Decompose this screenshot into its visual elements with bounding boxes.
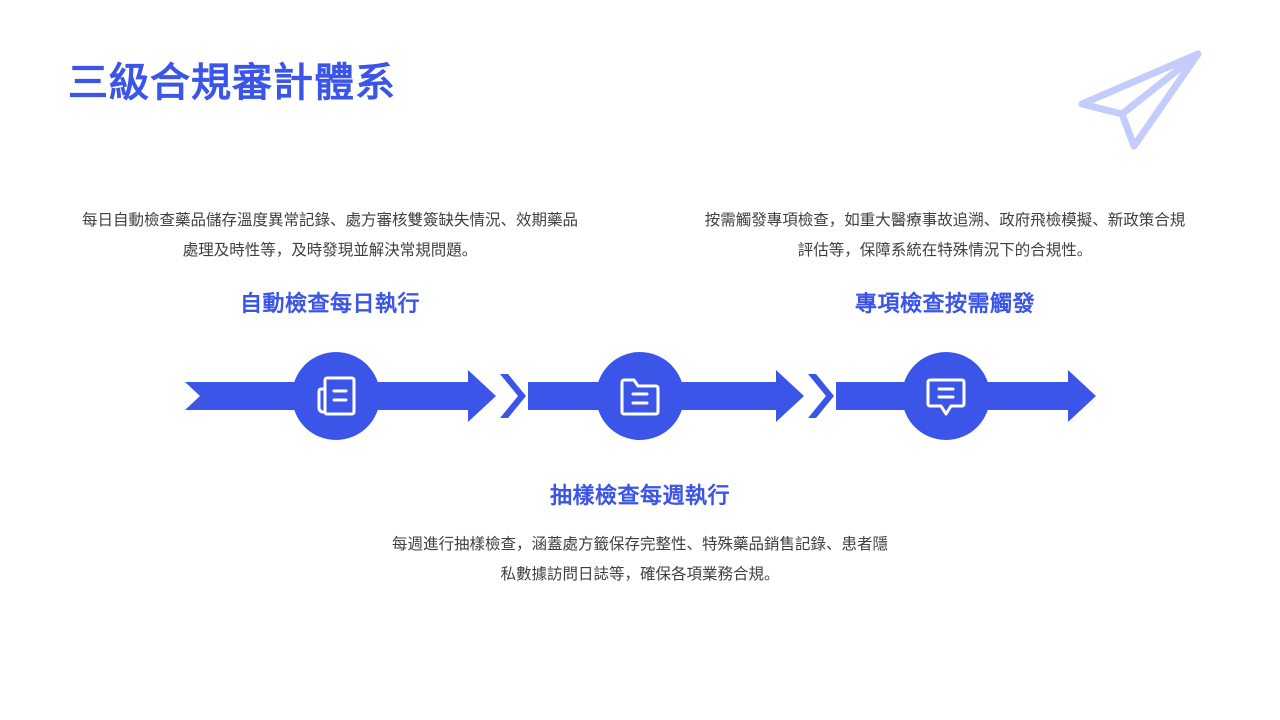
heading-right: 專項檢查按需觸發	[700, 286, 1190, 318]
timeline-arrow-segment-2	[372, 370, 496, 422]
timeline-bar-1	[528, 382, 606, 410]
timeline-arrow-segment-3	[676, 370, 804, 422]
heading-center: 抽樣檢查每週執行	[390, 478, 890, 510]
page-title: 三級合規審計體系	[68, 60, 396, 106]
heading-left: 自動檢查每日執行	[80, 286, 580, 318]
timeline-node-1	[292, 352, 380, 440]
timeline-chevron-2	[808, 374, 834, 418]
timeline-arrow-segment-4	[982, 370, 1096, 422]
timeline-graphic	[0, 340, 1280, 452]
description-center: 每週進行抽樣檢查，涵蓋處方籤保存完整性、特殊藥品銷售記錄、患者隱私數據訪問日誌等…	[390, 530, 890, 590]
timeline-node-2	[596, 352, 684, 440]
timeline-chevron-1	[500, 374, 526, 418]
description-left: 每日自動檢查藥品儲存溫度異常記錄、處方審核雙簽缺失情況、效期藥品處理及時性等，及…	[80, 206, 580, 266]
timeline-arrow-segment-1	[185, 382, 300, 410]
timeline-node-3	[902, 352, 990, 440]
description-right: 按需觸發專項檢查，如重大醫療事故追溯、政府飛檢模擬、新政策合規評估等，保障系統在…	[700, 206, 1190, 266]
paper-plane-icon	[1070, 42, 1230, 152]
